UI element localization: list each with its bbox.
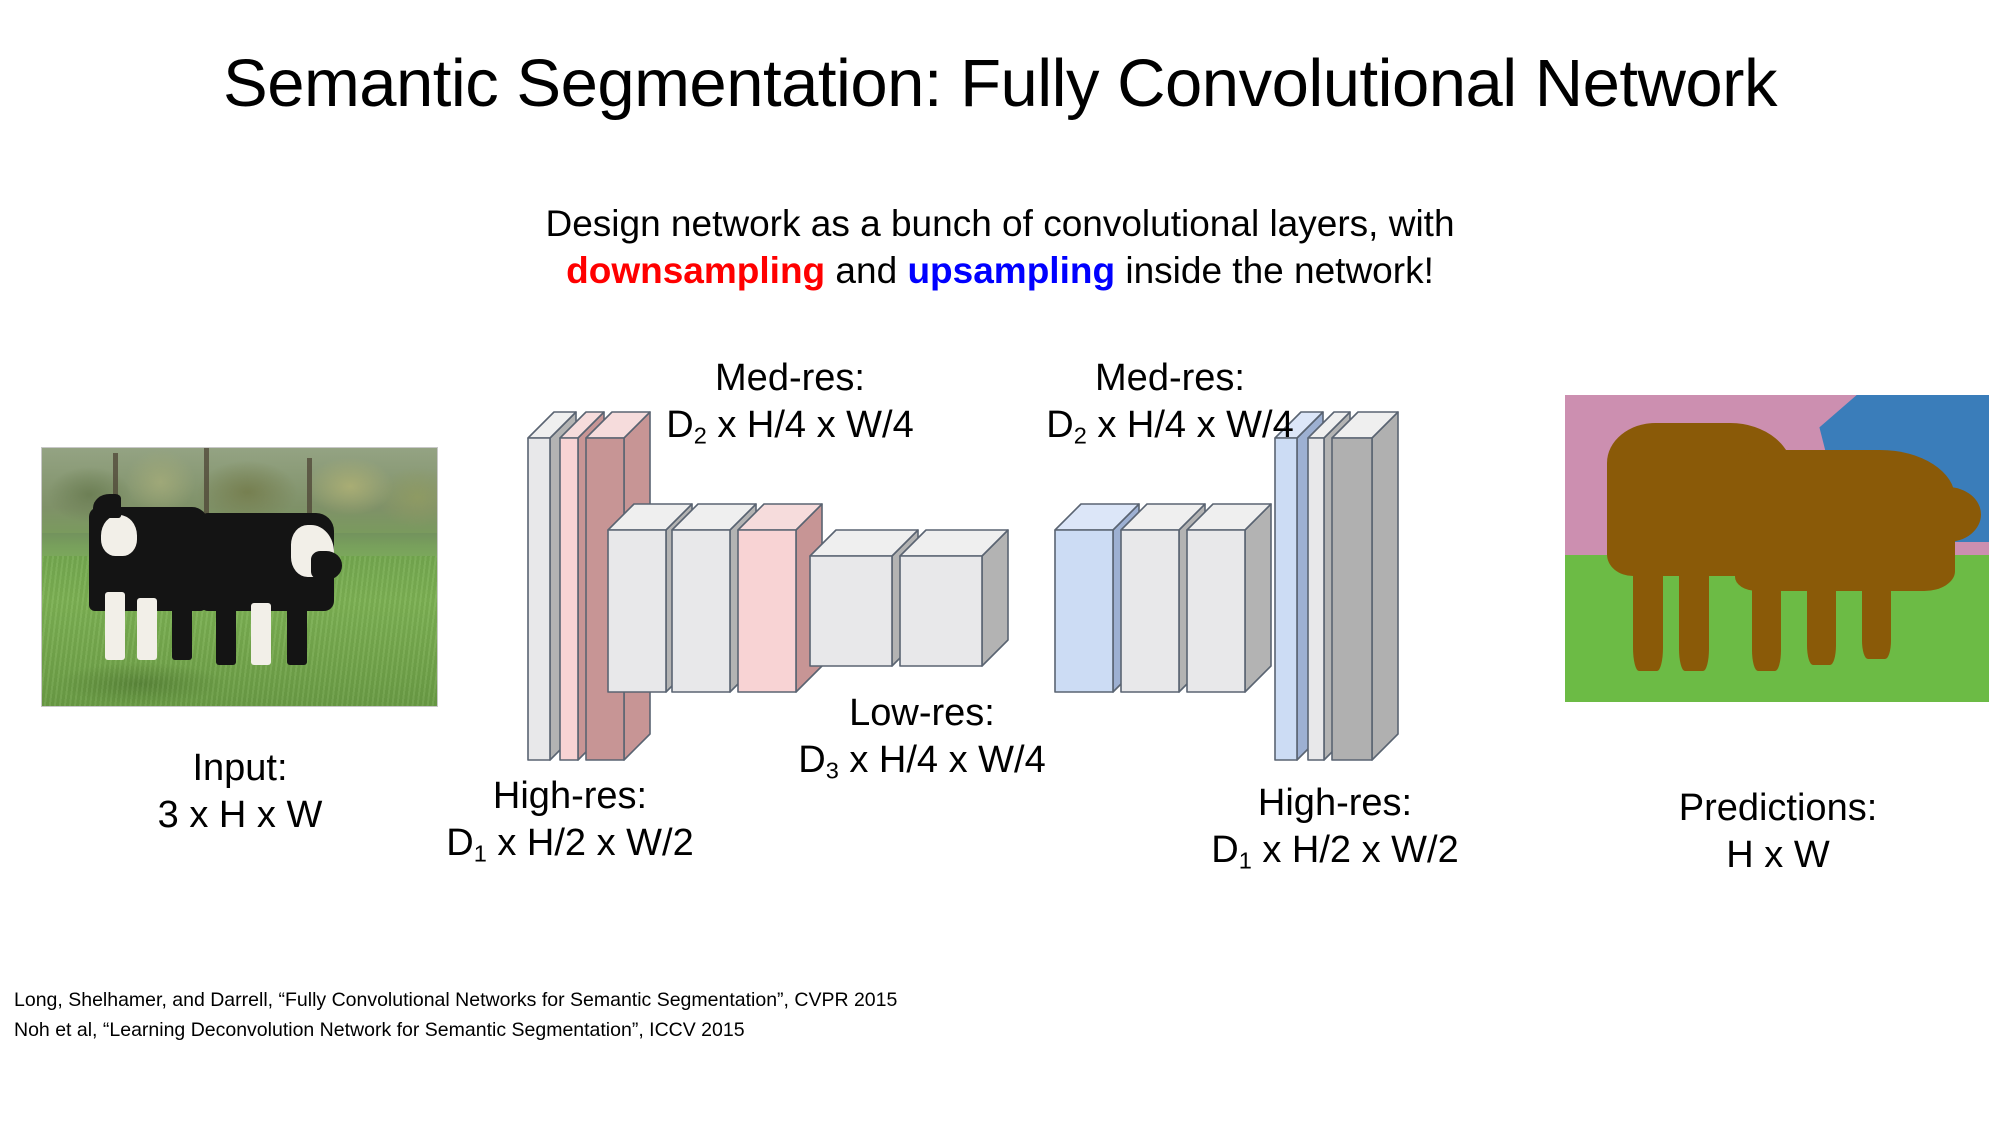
label-med-res-right: Med-res: D2 x H/4 x W/4 [1000, 355, 1340, 449]
label-med-res-left: Med-res: D2 x H/4 x W/4 [620, 355, 960, 449]
network-block [1187, 504, 1271, 692]
label-med-res-right-line1: Med-res: [1000, 355, 1340, 402]
label-high-res-right-line2: D1 x H/2 x W/2 [1165, 827, 1505, 874]
label-high-res-right-line1: High-res: [1165, 780, 1505, 827]
label-med-res-left-line2: D2 x H/4 x W/4 [620, 402, 960, 449]
citation-2: Noh et al, “Learning Deconvolution Netwo… [14, 1015, 897, 1045]
label-high-res-left: High-res: D1 x H/2 x W/2 [405, 773, 735, 867]
label-input: Input: 3 x H x W [95, 745, 385, 839]
label-input-line1: Input: [95, 745, 385, 792]
label-predictions: Predictions: H x W [1608, 785, 1948, 879]
label-high-res-left-line2: D1 x H/2 x W/2 [405, 820, 735, 867]
label-high-res-right: High-res: D1 x H/2 x W/2 [1165, 780, 1505, 874]
citation-1: Long, Shelhamer, and Darrell, “Fully Con… [14, 985, 897, 1015]
citation-footnotes: Long, Shelhamer, and Darrell, “Fully Con… [14, 985, 897, 1045]
label-low-res-line2: D3 x H/4 x W/4 [752, 737, 1092, 784]
label-predictions-line1: Predictions: [1608, 785, 1948, 832]
label-input-line2: 3 x H x W [95, 792, 385, 839]
label-predictions-line2: H x W [1608, 832, 1948, 879]
network-block-diagram [0, 0, 2000, 1125]
label-med-res-right-line2: D2 x H/4 x W/4 [1000, 402, 1340, 449]
label-low-res-line1: Low-res: [752, 690, 1092, 737]
label-high-res-left-line1: High-res: [405, 773, 735, 820]
network-block [900, 530, 1008, 666]
label-med-res-left-line1: Med-res: [620, 355, 960, 402]
slide-canvas: Semantic Segmentation: Fully Convolution… [0, 0, 2000, 1125]
label-low-res: Low-res: D3 x H/4 x W/4 [752, 690, 1092, 784]
network-block [1332, 412, 1398, 760]
